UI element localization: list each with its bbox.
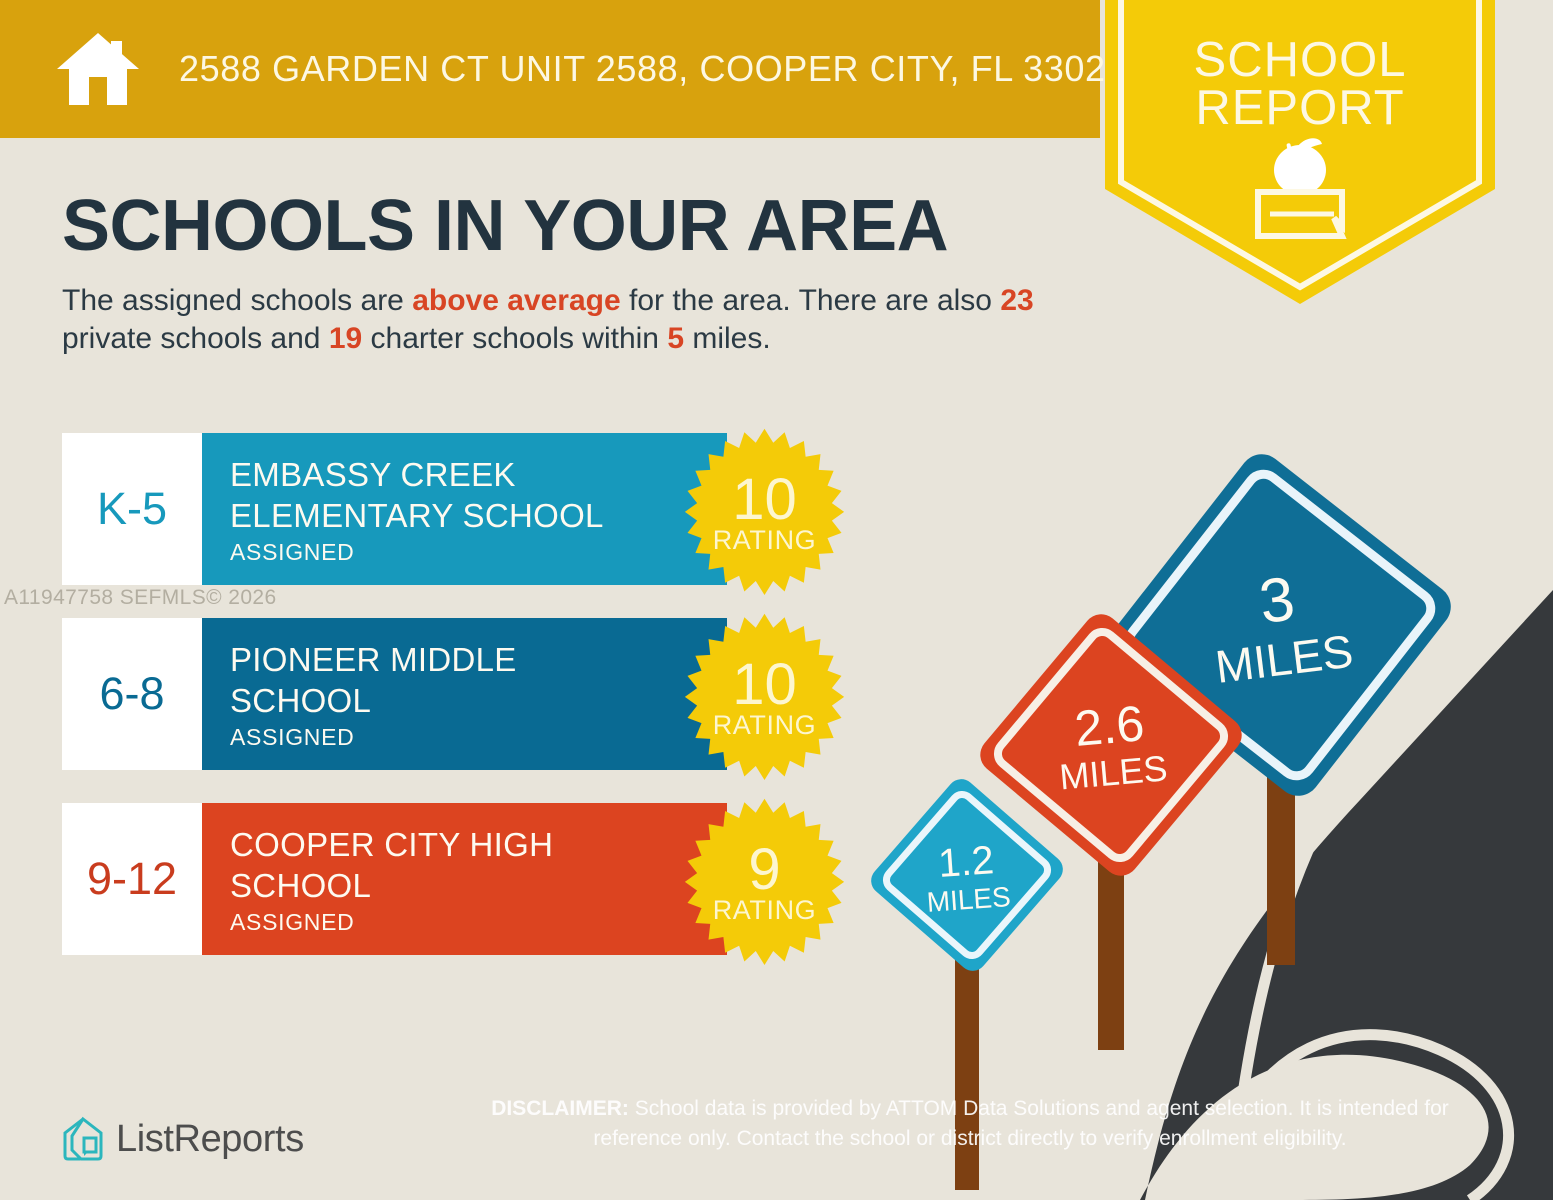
school-row[interactable]: K-5 EMBASSY CREEK ELEMENTARY SCHOOL ASSI… — [62, 433, 727, 585]
school-name-line-2: SCHOOL — [230, 866, 727, 907]
school-status-badge: ASSIGNED — [230, 909, 727, 936]
school-info: EMBASSY CREEK ELEMENTARY SCHOOL ASSIGNED — [202, 433, 727, 585]
school-info: COOPER CITY HIGH SCHOOL ASSIGNED — [202, 803, 727, 955]
school-name-line-2: SCHOOL — [230, 681, 727, 722]
subtitle-highlight-radius: 5 — [667, 322, 684, 355]
subtitle-part-2: for the area. There are also — [621, 284, 1001, 317]
listreports-house-pen-icon — [62, 1116, 104, 1162]
grade-box: 6-8 — [62, 618, 202, 770]
page-title: SCHOOLS IN YOUR AREA — [62, 185, 948, 267]
distance-value-1: 1.2 — [937, 838, 996, 886]
school-status-badge: ASSIGNED — [230, 539, 727, 566]
rating-starburst: 9 RATING — [677, 797, 852, 972]
grade-box: 9-12 — [62, 803, 202, 955]
school-name-line-2: ELEMENTARY SCHOOL — [230, 496, 727, 537]
distance-unit-1: MILES — [926, 881, 1012, 918]
grade-label: K-5 — [97, 483, 167, 535]
grade-label: 6-8 — [99, 668, 164, 720]
school-name-line-1: PIONEER MIDDLE — [230, 640, 727, 681]
school-row[interactable]: 6-8 PIONEER MIDDLE SCHOOL ASSIGNED 10 RA… — [62, 618, 727, 770]
disclaimer-label: DISCLAIMER: — [491, 1097, 629, 1120]
header-bar: 2588 GARDEN CT UNIT 2588, COOPER CITY, F… — [0, 0, 1100, 138]
school-status-badge: ASSIGNED — [230, 724, 727, 751]
school-row[interactable]: 9-12 COOPER CITY HIGH SCHOOL ASSIGNED 9 … — [62, 803, 727, 955]
property-address: 2588 GARDEN CT UNIT 2588, COOPER CITY, F… — [179, 48, 1126, 90]
subtitle-part-5: miles. — [684, 322, 771, 355]
disclaimer-body: School data is provided by ATTOM Data So… — [593, 1097, 1448, 1150]
rating-starburst: 10 RATING — [677, 612, 852, 787]
school-report-badge: SCHOOL REPORT — [1105, 0, 1495, 304]
disclaimer-text: DISCLAIMER: School data is provided by A… — [455, 1094, 1485, 1154]
subtitle-highlight-above-average: above average — [412, 284, 620, 317]
home-icon — [55, 29, 141, 109]
grade-box: K-5 — [62, 433, 202, 585]
mls-watermark: A11947758 SEFMLS© 2026 — [4, 586, 277, 610]
listreports-logo[interactable]: ListReports — [62, 1116, 304, 1162]
subtitle: The assigned schools are above average f… — [62, 282, 1082, 357]
subtitle-part-3: private schools and — [62, 322, 329, 355]
rating-starburst: 10 RATING — [677, 427, 852, 602]
listreports-logo-text: ListReports — [116, 1118, 304, 1161]
subtitle-highlight-private-count: 23 — [1000, 284, 1033, 317]
distance-value-2: 2.6 — [1072, 695, 1146, 757]
subtitle-highlight-charter-count: 19 — [329, 322, 362, 355]
road-and-signs-illustration: 3 MILES 2.6 MILES 1.2 MILES — [930, 470, 1553, 1200]
subtitle-part-4: charter schools within — [362, 322, 667, 355]
school-list: K-5 EMBASSY CREEK ELEMENTARY SCHOOL ASSI… — [62, 433, 727, 988]
school-info: PIONEER MIDDLE SCHOOL ASSIGNED — [202, 618, 727, 770]
subtitle-part-1: The assigned schools are — [62, 284, 412, 317]
grade-label: 9-12 — [87, 853, 177, 905]
school-name-line-1: COOPER CITY HIGH — [230, 825, 727, 866]
school-name-line-1: EMBASSY CREEK — [230, 455, 727, 496]
